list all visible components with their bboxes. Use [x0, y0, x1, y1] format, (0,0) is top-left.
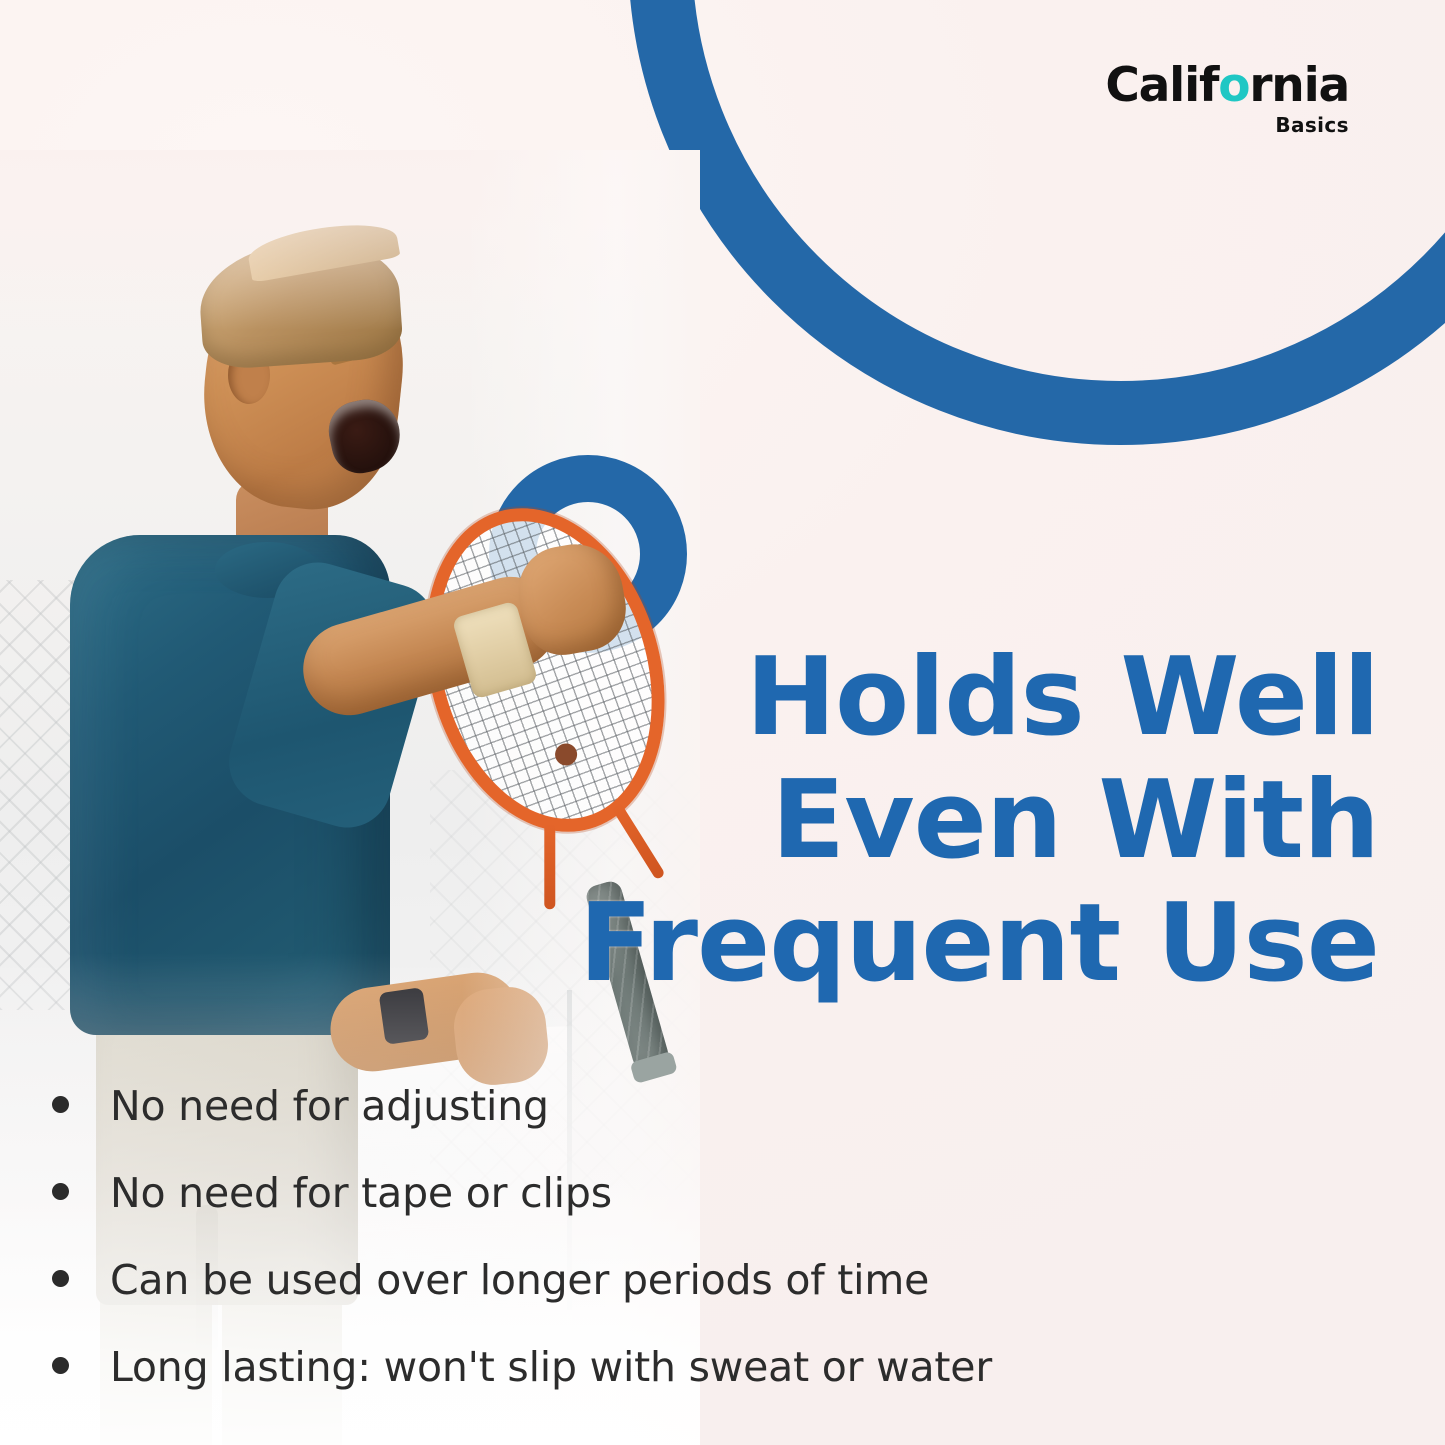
list-item: No need for tape or clips: [52, 1169, 1252, 1256]
brand-logo-subtext: Basics: [1105, 115, 1349, 135]
headline-line-1: Holds Well: [519, 636, 1379, 759]
brand-logo-teal-o: o: [1218, 58, 1249, 113]
brand-logo-part-2: rnia: [1249, 58, 1349, 113]
feature-bullet-list: No need for adjusting No need for tape o…: [52, 1082, 1252, 1430]
brand-logo: California Basics: [1105, 62, 1349, 135]
headline-line-2: Even With: [519, 759, 1379, 882]
bullet-dot-icon: [52, 1270, 69, 1287]
bullet-dot-icon: [52, 1096, 69, 1113]
bullet-label: No need for tape or clips: [110, 1169, 612, 1217]
headline-line-3: Frequent Use: [519, 882, 1379, 1005]
brand-logo-wordmark: California: [1105, 62, 1349, 109]
brand-logo-part-1: Calif: [1105, 58, 1218, 113]
list-item: Long lasting: won't slip with sweat or w…: [52, 1343, 1252, 1430]
bullet-label: Can be used over longer periods of time: [110, 1256, 929, 1304]
page-title: Holds Well Even With Frequent Use: [519, 636, 1379, 1005]
list-item: Can be used over longer periods of time: [52, 1256, 1252, 1343]
list-item: No need for adjusting: [52, 1082, 1252, 1169]
wrist-watch: [379, 987, 430, 1045]
promo-banner: California Basics Holds Well Even With F…: [0, 0, 1445, 1445]
bullet-dot-icon: [52, 1183, 69, 1200]
bullet-dot-icon: [52, 1357, 69, 1374]
bullet-label: No need for adjusting: [110, 1082, 549, 1130]
bullet-label: Long lasting: won't slip with sweat or w…: [110, 1343, 992, 1391]
